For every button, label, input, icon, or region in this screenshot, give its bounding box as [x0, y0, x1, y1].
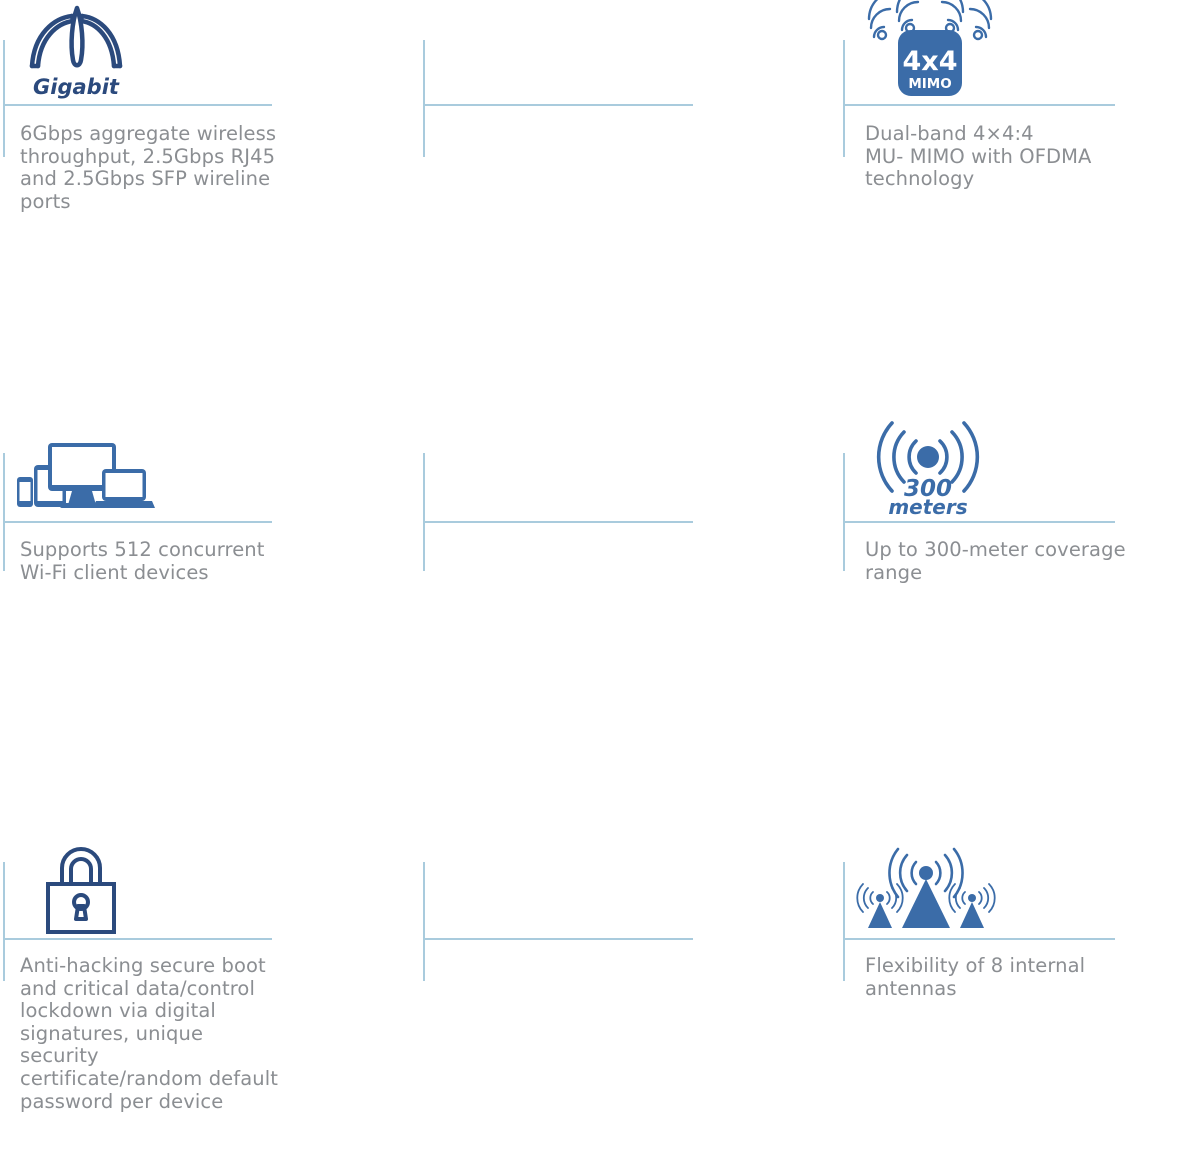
- vertical-divider: [3, 40, 5, 157]
- feature-cell-clients: Supports 512 concurrent Wi-Fi client dev…: [0, 205, 420, 410]
- padlock-icon: [40, 846, 122, 936]
- vertical-divider: [423, 862, 425, 981]
- vertical-divider: [843, 40, 845, 157]
- feature-cell-mimo: 4x4 MIMO Dual-band 4×4:4 MU- MIMO with O…: [420, 0, 840, 205]
- horizontal-divider: [3, 104, 272, 106]
- vertical-divider: [843, 862, 845, 981]
- feature-cell-poe: PoE+ 2.5 Gigabit Ethernet Port supports …: [840, 0, 1200, 205]
- feature-description: Anti-hacking secure boot and critical da…: [20, 955, 288, 1113]
- horizontal-divider: [843, 938, 1115, 940]
- feature-cell-security: Anti-hacking secure boot and critical da…: [0, 410, 420, 676]
- feature-cell-controller: Embedded controller manages up to 50 loc…: [840, 410, 1200, 676]
- horizontal-divider: [423, 104, 693, 106]
- horizontal-divider: [3, 938, 272, 940]
- horizontal-divider: [843, 104, 1115, 106]
- gigabit-logo-icon: Gigabit: [24, 4, 154, 100]
- feature-grid: Gigabit 6Gbps aggregate wireless through…: [0, 0, 1200, 676]
- antenna-towers-icon: [860, 846, 992, 932]
- feature-cell-gigabit: Gigabit 6Gbps aggregate wireless through…: [0, 0, 420, 205]
- feature-description: 6Gbps aggregate wireless throughput, 2.5…: [20, 123, 288, 213]
- gigabit-badge-label: Gigabit: [33, 75, 120, 99]
- vertical-divider: [3, 862, 5, 981]
- vertical-divider: [423, 40, 425, 157]
- feature-cell-coverage: 300 meters Up to 300-meter coverage rang…: [420, 205, 840, 410]
- feature-cell-antennas: Flexibility of 8 internal antennas: [420, 410, 840, 676]
- feature-description: Flexibility of 8 internal antennas: [865, 955, 1137, 1000]
- feature-cell-qos: QoS Advanced QoS to ensure real-time per…: [840, 205, 1200, 410]
- horizontal-divider: [423, 938, 693, 940]
